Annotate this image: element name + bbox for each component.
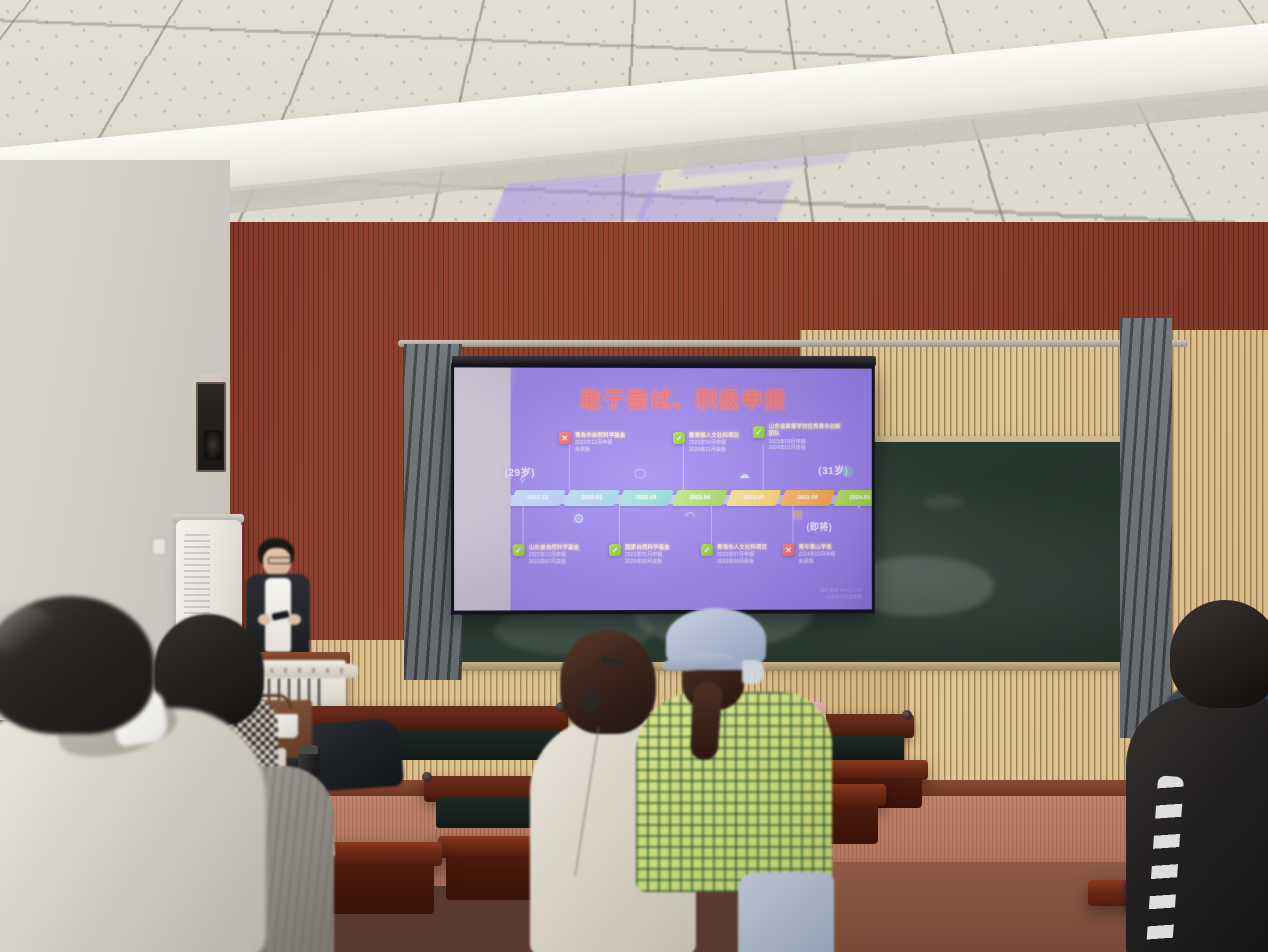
screen-unlit-margin bbox=[454, 367, 510, 610]
timeline-segment: 2023.07 bbox=[726, 490, 782, 506]
timeline-segment-label: 2023.01 bbox=[567, 490, 617, 506]
timeline-segment-label: 2022.12 bbox=[513, 490, 563, 506]
bench-knob bbox=[902, 710, 912, 720]
glasses-icon bbox=[268, 557, 291, 564]
slide-timeline: 2022.12 2023.01 2023.03 2023.04 2023.07 … bbox=[507, 414, 872, 605]
curtain-rod bbox=[398, 340, 1188, 347]
wall-speaker bbox=[196, 382, 226, 472]
status-badge-approved: ✓ bbox=[609, 544, 621, 556]
timeline-segment: 2023.09 bbox=[780, 490, 835, 506]
status-badge-rejected: ✕ bbox=[783, 544, 795, 556]
attendee-torso bbox=[636, 692, 832, 892]
status-badge-rejected: ✕ bbox=[559, 432, 571, 444]
timeline-segment-label: 2024.01 bbox=[836, 490, 872, 506]
slide-surface: 敢于尝试、积极申报 2022.12 2023.01 2023.03 2023.0… bbox=[454, 367, 872, 610]
milestone-label-above: 山东省高等学校优秀青年创新团队 2023年09月申报 2024年01月获批 bbox=[769, 424, 846, 452]
milestone-label-below: 青海市人文社科项目 2023年07月申报 2023年09月获批 bbox=[717, 544, 767, 567]
timeline-stem bbox=[711, 506, 712, 548]
wall-speaker-bracket bbox=[200, 374, 222, 381]
attendee-ear bbox=[580, 688, 600, 712]
timeline-segment-label: 2023.03 bbox=[621, 490, 671, 506]
timeline-stem bbox=[619, 506, 620, 548]
upcoming-label: (即将) bbox=[806, 520, 832, 533]
slide-watermark: 图片来源 WPS.COM 仅供学习交流使用 bbox=[820, 588, 862, 602]
timeline-segment: 2023.03 bbox=[618, 490, 674, 506]
slide-title: 敢于尝试、积极申报 bbox=[519, 384, 848, 415]
attendee-jeans bbox=[738, 872, 834, 952]
attendee-hair bbox=[1170, 600, 1268, 708]
status-badge-approved: ✓ bbox=[753, 426, 765, 438]
attendee-hair bbox=[0, 596, 154, 734]
timeline-segment: 2023.01 bbox=[564, 490, 620, 506]
lecture-hall-photo: EPSON 敢于尝试、积极申报 bbox=[0, 0, 1268, 952]
timeline-stem bbox=[683, 444, 684, 490]
attendee-torso bbox=[1126, 696, 1268, 952]
milestone-label-below: 山东省自然科学基金 2022年12月申报 2023年07月获批 bbox=[529, 544, 580, 567]
timeline-stem bbox=[763, 444, 764, 490]
cloud-icon: ☁ bbox=[739, 470, 750, 481]
bench-knob bbox=[422, 772, 432, 782]
timeline-segment: 2022.12 bbox=[510, 490, 566, 506]
timeline-segment: 2023.04 bbox=[672, 490, 728, 506]
timeline-segment-label: 2023.09 bbox=[783, 490, 833, 506]
timeline-stem bbox=[523, 506, 524, 548]
milestone-label-above: 教育部人文社科项目 2023年04月申报 2023年11月获批 bbox=[689, 432, 739, 455]
timeline-segment: 2024.01 bbox=[833, 490, 872, 506]
timeline-segment-label: 2023.07 bbox=[729, 490, 779, 506]
book-icon: ▤ bbox=[793, 510, 803, 521]
timeline-segment-label: 2023.04 bbox=[675, 490, 725, 506]
timeline-stem bbox=[793, 506, 794, 548]
bulb-icon: ◠ bbox=[685, 510, 695, 522]
status-badge-approved: ✓ bbox=[673, 432, 685, 444]
light-switch[interactable] bbox=[152, 538, 166, 555]
attendee-ponytail bbox=[689, 681, 722, 761]
monitor-icon: 🖵 bbox=[635, 469, 646, 480]
projection-screen: 敢于尝试、积极申报 2022.12 2023.01 2023.03 2023.0… bbox=[451, 363, 875, 614]
status-badge-approved: ✓ bbox=[701, 544, 713, 556]
attendee-black-striped-jacket bbox=[1142, 600, 1268, 952]
attendee-green-check-cap bbox=[638, 608, 834, 952]
foreground-attendee-beige-jacket bbox=[0, 596, 302, 952]
gear-icon: ⚙ bbox=[573, 512, 585, 525]
milestone-label-below: 国家自然科学基金 2023年01月申报 2023年08月获批 bbox=[625, 544, 670, 567]
face-mask bbox=[742, 660, 764, 684]
timeline-stem bbox=[569, 444, 570, 490]
milestone-label-below: 青年泰山学者 2024年02月申报 未获批 bbox=[798, 544, 835, 567]
target-icon: ◎ bbox=[842, 464, 853, 477]
status-badge-approved: ✓ bbox=[513, 544, 525, 556]
milestone-label-above: 青岛市自然科学基金 2022年12月申报 未获批 bbox=[575, 432, 625, 455]
